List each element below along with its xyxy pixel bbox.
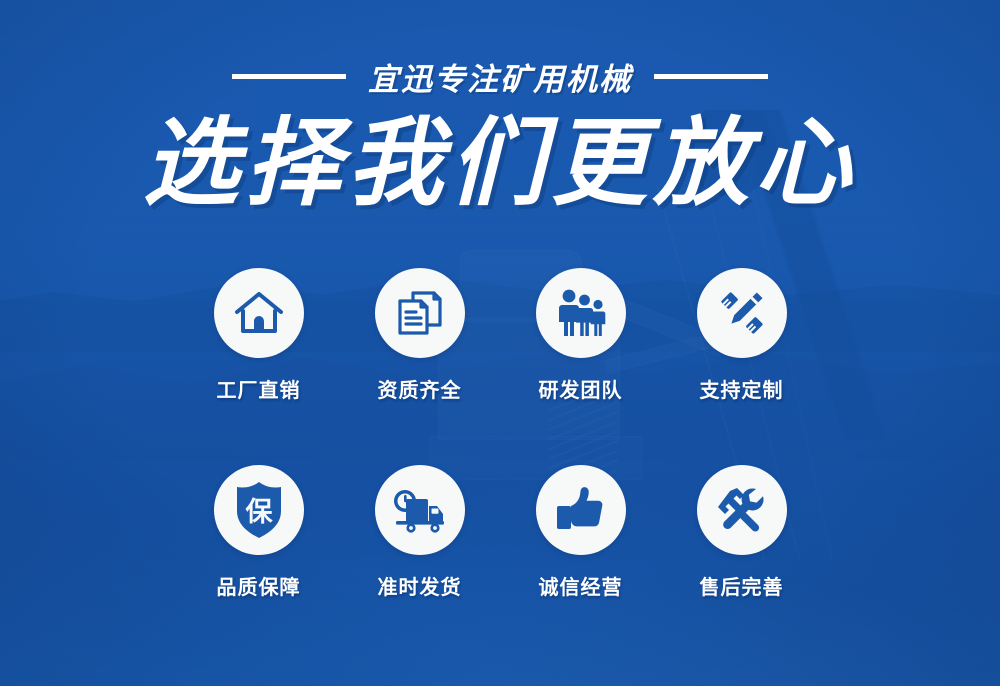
team-icon (536, 268, 626, 358)
feature-item-customization[interactable]: 支持定制 (661, 268, 822, 403)
shield-bao-icon: 保 (214, 465, 304, 555)
feature-item-integrity[interactable]: 诚信经营 (500, 465, 661, 600)
rule-left-icon (232, 74, 346, 79)
banner-content: 宜迅专注矿用机械 选择我们更放心 工厂直销 (0, 0, 1000, 686)
pencil-ruler-icon (697, 268, 787, 358)
feature-label: 诚信经营 (539, 571, 623, 600)
feature-label: 准时发货 (378, 571, 462, 600)
subtitle-row: 宜迅专注矿用机械 (0, 54, 1000, 99)
feature-item-qualifications[interactable]: 资质齐全 (339, 268, 500, 403)
feature-label: 资质齐全 (378, 374, 462, 403)
feature-grid: 工厂直销 资质齐全 (178, 268, 822, 600)
rule-right-icon (654, 74, 768, 79)
feature-label: 品质保障 (217, 571, 301, 600)
thumbs-up-icon (536, 465, 626, 555)
banner-subtitle: 宜迅专注矿用机械 (368, 54, 632, 99)
feature-label: 支持定制 (700, 374, 784, 403)
feature-label: 工厂直销 (217, 374, 301, 403)
truck-clock-icon (375, 465, 465, 555)
feature-item-after-sales[interactable]: 售后完善 (661, 465, 822, 600)
feature-item-ontime-delivery[interactable]: 准时发货 (339, 465, 500, 600)
banner-headline: 选择我们更放心 (0, 112, 1000, 216)
feature-item-rnd-team[interactable]: 研发团队 (500, 268, 661, 403)
documents-icon (375, 268, 465, 358)
feature-item-quality-assurance[interactable]: 保 品质保障 (178, 465, 339, 600)
promo-banner: 宜迅专注矿用机械 选择我们更放心 工厂直销 (0, 0, 1000, 686)
feature-label: 研发团队 (539, 374, 623, 403)
feature-label: 售后完善 (700, 571, 784, 600)
feature-item-factory-direct[interactable]: 工厂直销 (178, 268, 339, 403)
hammer-wrench-icon (697, 465, 787, 555)
home-icon (214, 268, 304, 358)
shield-glyph: 保 (244, 497, 273, 527)
